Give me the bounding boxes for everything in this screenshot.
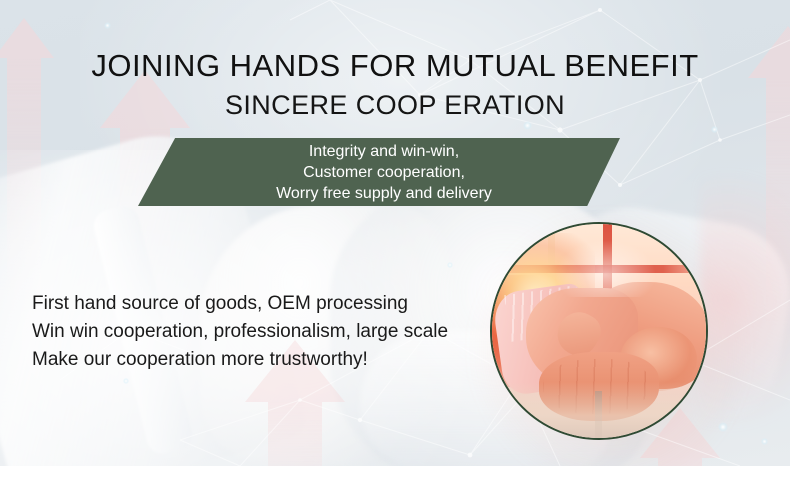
bokeh-dot <box>761 438 768 445</box>
bokeh-dot <box>718 422 728 432</box>
page-title: JOINING HANDS FOR MUTUAL BENEFIT <box>0 46 790 86</box>
tagline-line-2: Customer cooperation, <box>276 162 492 183</box>
body-copy-line-2: Win win cooperation, professionalism, la… <box>32 318 448 346</box>
bokeh-dot <box>104 22 111 29</box>
tagline-banner-text: Integrity and win-win, Customer cooperat… <box>266 141 492 204</box>
bottom-white-strip <box>0 466 790 480</box>
bokeh-dot <box>123 378 129 384</box>
promotional-banner: JOINING HANDS FOR MUTUAL BENEFIT SINCERE… <box>0 0 790 480</box>
body-copy-line-3: Make our cooperation more trustworthy! <box>32 346 448 374</box>
body-copy-line-1: First hand source of goods, OEM processi… <box>32 290 448 318</box>
tagline-line-3: Worry free supply and delivery <box>276 183 492 204</box>
tagline-line-1: Integrity and win-win, <box>276 141 492 162</box>
bokeh-dot <box>711 126 718 133</box>
handshake-circle-photo <box>490 222 708 440</box>
body-copy: First hand source of goods, OEM processi… <box>32 290 448 374</box>
photo-bottom-shading <box>492 382 706 438</box>
bokeh-dot <box>447 262 453 268</box>
bokeh-dot <box>523 121 532 130</box>
page-subtitle: SINCERE COOP ERATION <box>0 88 790 122</box>
photo-top-highlight <box>556 241 654 297</box>
tagline-banner: Integrity and win-win, Customer cooperat… <box>138 138 620 206</box>
